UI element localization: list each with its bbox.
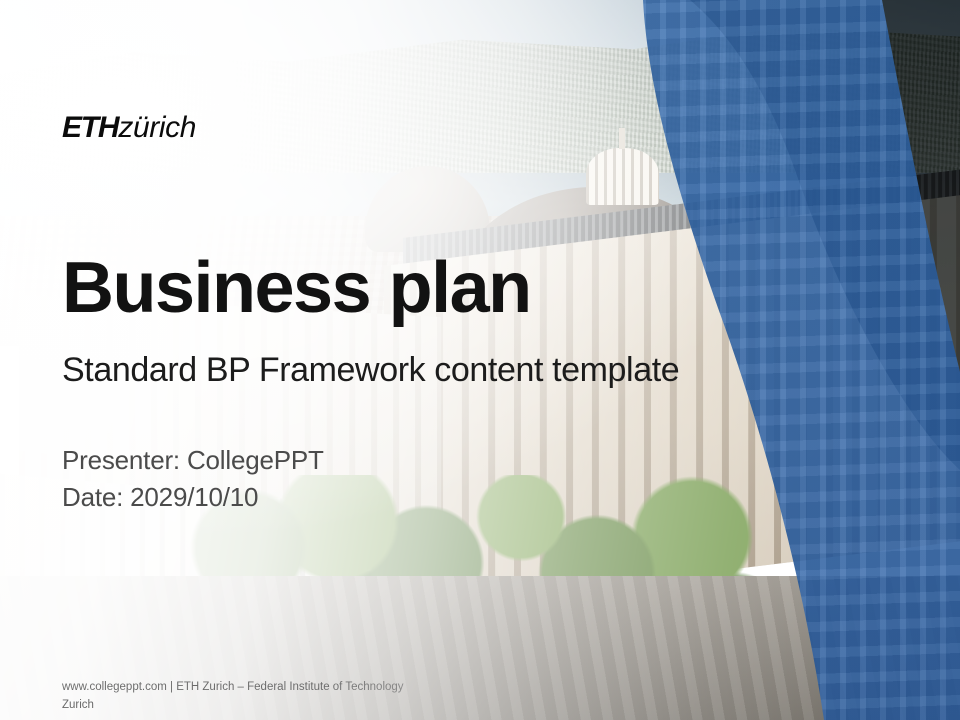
slide-footer: www.collegeppt.com | ETH Zurich – Federa… <box>62 679 622 715</box>
slide-content: ETHzürich Business plan Standard BP Fram… <box>0 0 960 720</box>
logo-eth-wordmark: ETH <box>62 111 118 144</box>
slide-subtitle: Standard BP Framework content template <box>62 352 679 389</box>
slide-meta: Presenter: CollegePPT Date: 2029/10/10 <box>62 442 324 516</box>
date-line: Date: 2029/10/10 <box>62 479 324 516</box>
footer-line-2: Zurich <box>62 697 622 715</box>
presenter-line: Presenter: CollegePPT <box>62 442 324 479</box>
slide-title: Business plan <box>62 252 531 325</box>
title-slide: ETHzürich Business plan Standard BP Fram… <box>0 0 960 720</box>
eth-zurich-logo: ETHzürich <box>62 113 196 143</box>
logo-zurich-wordmark: zürich <box>118 111 196 144</box>
footer-line-1: www.collegeppt.com | ETH Zurich – Federa… <box>62 679 622 697</box>
